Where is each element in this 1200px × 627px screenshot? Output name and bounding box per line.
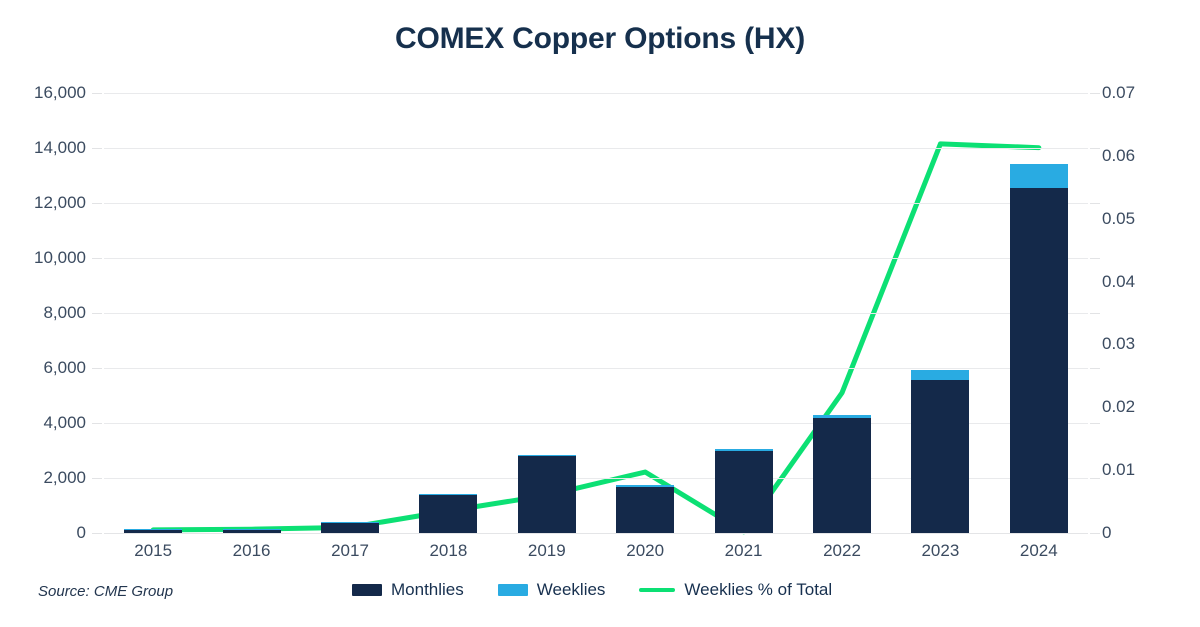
axis-tick-right [1090,148,1100,149]
bar-segment-monthlies[interactable] [715,451,773,533]
axis-tick-left [92,313,102,314]
y2-axis-label: 0.03 [1102,334,1192,354]
y-axis-label: 12,000 [0,193,86,213]
axis-tick-right [1090,93,1100,94]
y2-axis-label: 0.04 [1102,272,1192,292]
y-axis-label: 10,000 [0,248,86,268]
y2-axis-label: 0.07 [1102,83,1192,103]
legend-label: Monthlies [391,580,464,600]
axis-tick-left [92,478,102,479]
bar-segment-weeklies[interactable] [518,455,576,457]
axis-tick-left [92,93,102,94]
chart-title: COMEX Copper Options (HX) [0,22,1200,56]
axis-tick-left [92,148,102,149]
legend-swatch-line [639,588,675,592]
y-axis-label: 14,000 [0,138,86,158]
y2-axis-label: 0.01 [1102,460,1192,480]
y2-axis-label: 0.02 [1102,397,1192,417]
y2-axis-label: 0.06 [1102,146,1192,166]
bar-segment-weeklies[interactable] [124,529,182,530]
bar-segment-weeklies[interactable] [223,529,281,530]
bar-group[interactable] [124,93,182,533]
bar-group[interactable] [911,93,969,533]
y2-axis-label: 0.05 [1102,209,1192,229]
bar-segment-weeklies[interactable] [911,370,969,380]
bar-group[interactable] [518,93,576,533]
source-note: Source: CME Group [38,583,173,600]
x-axis-label: 2024 [979,541,1099,561]
legend-swatch-box [352,584,382,596]
y2-axis-label: 0 [1102,523,1192,543]
axis-tick-left [92,203,102,204]
bar-segment-monthlies[interactable] [813,418,871,534]
axis-tick-left [92,258,102,259]
axis-tick-right [1090,203,1100,204]
legend-item[interactable]: Weeklies % of Total [639,580,832,600]
bar-segment-monthlies[interactable] [124,530,182,533]
axis-tick-right [1090,258,1100,259]
bar-segment-weeklies[interactable] [321,522,379,523]
bar-segment-monthlies[interactable] [911,380,969,533]
y-axis-label: 0 [0,523,86,543]
y-axis-label: 8,000 [0,303,86,323]
axis-tick-right [1090,313,1100,314]
axis-tick-left [92,423,102,424]
bar-group[interactable] [616,93,674,533]
bar-segment-monthlies[interactable] [321,523,379,533]
y-axis-label: 6,000 [0,358,86,378]
legend-item[interactable]: Monthlies [352,580,464,600]
axis-tick-right [1090,478,1100,479]
legend-label: Weeklies % of Total [684,580,832,600]
bar-group[interactable] [223,93,281,533]
bar-group[interactable] [1010,93,1068,533]
axis-tick-left [92,533,102,534]
y-axis-label: 4,000 [0,413,86,433]
bar-segment-weeklies[interactable] [419,494,477,496]
axis-tick-right [1090,533,1100,534]
legend-item[interactable]: Weeklies [498,580,606,600]
bar-segment-weeklies[interactable] [1010,164,1068,188]
bar-group[interactable] [813,93,871,533]
bar-group[interactable] [715,93,773,533]
bar-segment-weeklies[interactable] [616,485,674,487]
bar-segment-monthlies[interactable] [518,456,576,533]
bar-segment-monthlies[interactable] [419,495,477,533]
legend-label: Weeklies [537,580,606,600]
axis-tick-right [1090,423,1100,424]
plot-area [104,93,1088,533]
chart-container: COMEX Copper Options (HX) 02,0004,0006,0… [0,0,1200,627]
axis-tick-right [1090,368,1100,369]
bar-segment-monthlies[interactable] [223,530,281,533]
chart-legend: MonthliesWeekliesWeeklies % of Total [352,580,832,600]
axis-tick-left [92,368,102,369]
bar-group[interactable] [419,93,477,533]
bar-group[interactable] [321,93,379,533]
bar-segment-monthlies[interactable] [1010,188,1068,533]
bar-segment-monthlies[interactable] [616,487,674,533]
gridline [104,533,1088,534]
bar-segment-weeklies[interactable] [813,415,871,417]
legend-swatch-box [498,584,528,596]
chart-footer: Source: CME Group MonthliesWeekliesWeekl… [0,580,1200,614]
y-axis-label: 16,000 [0,83,86,103]
bar-segment-weeklies[interactable] [715,449,773,451]
y-axis-label: 2,000 [0,468,86,488]
